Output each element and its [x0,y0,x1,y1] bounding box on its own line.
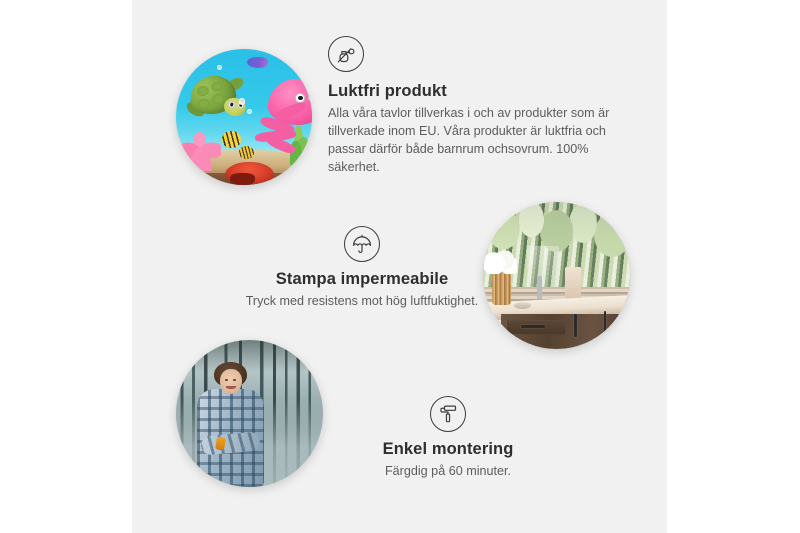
eye [225,379,228,381]
cabinet-handle [604,311,606,333]
octopus-eye [308,93,312,103]
feature-easy-mounting: Enkel montering Färgdig på 60 minuter. [328,396,568,480]
feature-description: Alla våra tavlor tillverkas i och av pro… [328,104,624,176]
yellow-fish [222,131,241,149]
pink-coral [180,128,221,172]
feature-waterproof-print: Stampa impermeabile Tryck med resistens … [212,226,512,310]
photo-sea-life-mural [176,49,312,185]
screenshot-canvas: Luktfri produkt Alla våra tavlor tillver… [0,0,800,533]
yellow-fish [239,146,254,160]
faucet [537,276,541,300]
shell-spot [196,85,210,97]
photo-woman-paint-roller-forest [176,340,323,487]
shell-spot [197,98,210,109]
bubble [217,65,222,70]
no-perfume-spray-icon [328,36,364,72]
feature-description: Tryck med resistens mot hög luftfuktighe… [212,292,512,310]
bubble [247,109,252,114]
shell-spot [210,81,223,92]
umbrella-icon [344,226,380,262]
feature-title: Stampa impermeabile [212,270,512,289]
paint-roller-grip [215,436,226,451]
mirror [527,246,559,287]
turtle-eye [227,100,235,108]
crab-shadow [230,173,254,185]
bubble [239,98,246,105]
feature-panel: Luktfri produkt Alla våra tavlor tillver… [132,0,667,533]
feature-title: Luktfri produkt [328,82,624,101]
feature-title: Enkel montering [328,440,568,459]
paint-roller-icon [430,396,466,432]
drawer-handle [521,325,545,327]
cabinet-handle [574,314,576,338]
blue-fish [247,57,269,68]
eye [233,379,236,381]
feature-description: Färgdig på 60 minuter. [328,462,568,480]
shell-spot [211,93,225,105]
forest-canopy [176,340,323,372]
feature-odour-free: Luktfri produkt Alla våra tavlor tillver… [328,36,624,176]
towel [565,267,581,302]
